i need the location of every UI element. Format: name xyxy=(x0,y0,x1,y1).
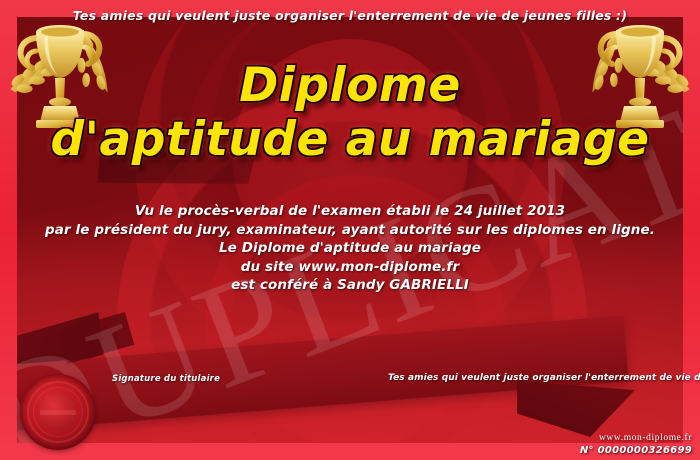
title-line-2: d'aptitude au mariage xyxy=(0,116,700,164)
seal-bar xyxy=(40,410,76,415)
header-message: Tes amies qui veulent juste organiser l'… xyxy=(0,8,700,23)
diploma-certificate: DUPLICATA xyxy=(0,0,700,460)
footer-serial-number: N° 0000000326699 xyxy=(580,445,692,456)
footer-website: www.mon-diplome.fr xyxy=(580,433,692,443)
body-line: par le président du jury, examinateur, a… xyxy=(0,221,700,240)
title-line-1: Diplome xyxy=(0,62,700,110)
signature-label: Signature du titulaire xyxy=(112,374,220,384)
wax-seal-icon xyxy=(20,374,96,450)
diploma-body-text: Vu le procès-verbal de l'examen établi l… xyxy=(0,202,700,295)
diploma-title: Diplome d'aptitude au mariage xyxy=(0,62,700,164)
body-line: est conféré à Sandy GABRIELLI xyxy=(0,276,700,295)
footer-message: Tes amies qui veulent juste organiser l'… xyxy=(388,373,700,383)
footer-identifiers: www.mon-diplome.fr N° 0000000326699 xyxy=(580,433,692,456)
body-line: du site www.mon-diplome.fr xyxy=(0,258,700,277)
body-line: Vu le procès-verbal de l'examen établi l… xyxy=(0,202,700,221)
body-line: Le Diplome d'aptitude au mariage xyxy=(0,239,700,258)
